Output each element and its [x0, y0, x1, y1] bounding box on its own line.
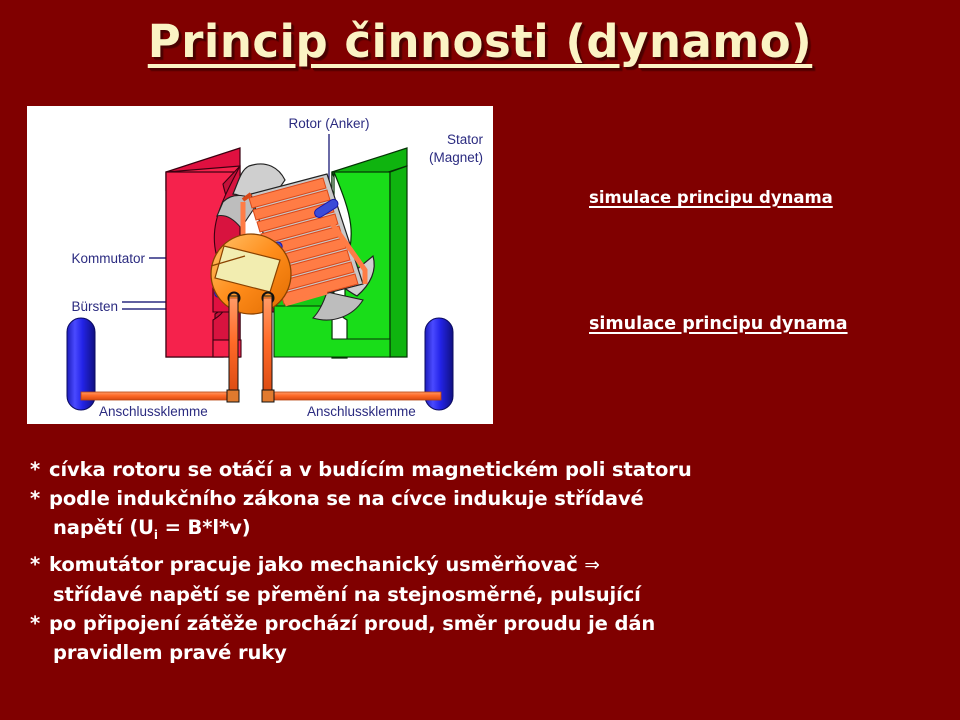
bullet-line-3: napětí (Ui = B*l*v) — [30, 513, 950, 550]
bullet-line-2: *podle indukčního zákona se na cívce ind… — [30, 484, 950, 513]
label-stator-line1: Stator — [447, 132, 484, 147]
bullet-list: *cívka rotoru se otáčí a v budícím magne… — [30, 455, 950, 667]
bullet-marker: * — [30, 550, 49, 579]
label-kommutator: Kommutator — [71, 251, 145, 266]
label-anschlussklemme-right: Anschlussklemme — [307, 404, 416, 419]
bullet-line-7: pravidlem pravé ruky — [30, 638, 950, 667]
bullet-text-2: podle indukčního zákona se na cívce indu… — [49, 487, 644, 510]
label-rotor: Rotor (Anker) — [288, 116, 369, 131]
bullet-marker: * — [30, 609, 49, 638]
label-stator-line2: (Magnet) — [429, 150, 483, 165]
rightwards-arrow-icon: ⇒ — [584, 555, 599, 576]
bullet-text-3b: = B*l*v) — [158, 516, 251, 539]
dynamo-diagram-figure: Rotor (Anker) Stator (Magnet) Kommutator… — [27, 106, 493, 424]
bullet-line-4: *komutátor pracuje jako mechanický usměr… — [30, 550, 950, 580]
bullet-text-6: po připojení zátěže prochází proud, směr… — [49, 612, 655, 635]
bullet-text-7: pravidlem pravé ruky — [53, 641, 287, 664]
bullet-text-5: střídavé napětí se přemění na stejnosměr… — [53, 583, 641, 606]
label-bursten: Bürsten — [71, 299, 118, 314]
bullet-text-4: komutátor pracuje jako mechanický usměrň… — [49, 553, 584, 576]
bullet-line-5: střídavé napětí se přemění na stejnosměr… — [30, 580, 950, 609]
bullet-line-1: *cívka rotoru se otáčí a v budícím magne… — [30, 455, 950, 484]
dynamo-diagram-svg: Rotor (Anker) Stator (Magnet) Kommutator… — [27, 106, 493, 424]
simulace-principu-dynama-link-2[interactable]: simulace principu dynama — [589, 314, 848, 334]
bullet-text-1: cívka rotoru se otáčí a v budícím magnet… — [49, 458, 692, 481]
simulace-principu-dynama-link-1[interactable]: simulace principu dynama — [589, 188, 833, 207]
commutator — [211, 234, 291, 314]
page-title: Princip činnosti (dynamo) — [0, 18, 960, 65]
bullet-marker: * — [30, 484, 49, 513]
bullet-marker: * — [30, 455, 49, 484]
label-anschlussklemme-left: Anschlussklemme — [99, 404, 208, 419]
bullet-line-6: *po připojení zátěže prochází proud, smě… — [30, 609, 950, 638]
bullet-text-3a: napětí (U — [53, 516, 154, 539]
